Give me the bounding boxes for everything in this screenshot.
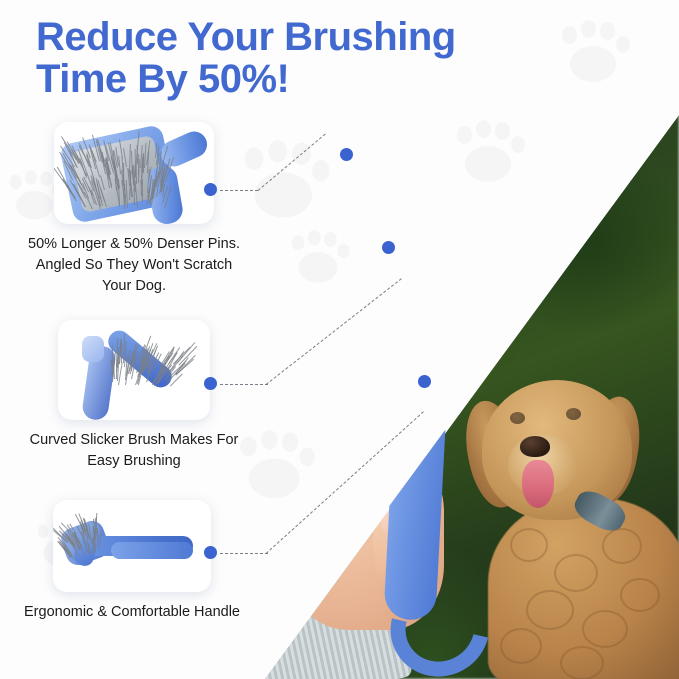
headline-line-1: Reduce Your Brushing <box>36 16 536 58</box>
feature-ergonomic-handle: Ergonomic & Comfortable Handle <box>22 500 242 623</box>
connector-dot-brush-3 <box>418 375 431 388</box>
product-infographic: Reduce Your Brushing Time By 50%! 50% Lo… <box>0 0 679 679</box>
connector-dot-brush-2 <box>382 241 395 254</box>
feature-thumbnail-curved-brush[interactable] <box>58 320 210 420</box>
feature-caption-ergonomic-handle: Ergonomic & Comfortable Handle <box>22 602 242 623</box>
feature-thumbnail-ergonomic-handle[interactable] <box>53 500 211 592</box>
feature-thumbnail-dense-pins[interactable] <box>54 122 214 224</box>
connector-dash-feature-2 <box>220 384 268 385</box>
connector-dot-feature-2 <box>204 377 217 390</box>
connector-dot-feature-3 <box>204 546 217 559</box>
connector-dash-feature-3 <box>220 553 268 554</box>
feature-caption-curved-brush: Curved Slicker Brush Makes For Easy Brus… <box>24 430 244 472</box>
headline-line-2: Time By 50%! <box>36 58 536 100</box>
connector-dot-brush-1 <box>340 148 353 161</box>
feature-dense-pins: 50% Longer & 50% Denser Pins. Angled So … <box>24 122 244 297</box>
feature-caption-dense-pins: 50% Longer & 50% Denser Pins. Angled So … <box>24 234 244 297</box>
headline: Reduce Your Brushing Time By 50%! <box>36 16 536 101</box>
feature-curved-brush: Curved Slicker Brush Makes For Easy Brus… <box>24 320 244 472</box>
connector-dot-feature-1 <box>204 183 217 196</box>
connector-dash-feature-1 <box>220 190 258 191</box>
